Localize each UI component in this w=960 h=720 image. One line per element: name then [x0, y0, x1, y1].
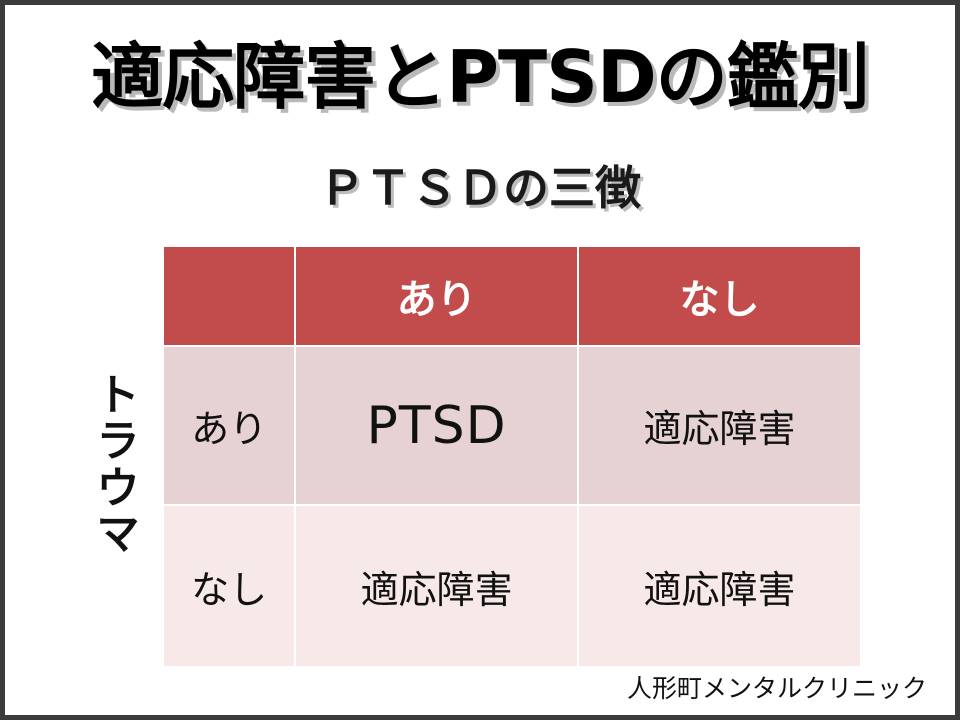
column-header-ari: あり [295, 246, 578, 346]
column-axis-label: ＰＴＳＤの三徴 [5, 163, 955, 214]
row-header-nashi: なし [163, 505, 295, 667]
table-row: あり PTSD 適応障害 [163, 346, 861, 505]
row-axis-char-4: マ [83, 512, 153, 558]
column-header-nashi: なし [578, 246, 861, 346]
differential-matrix-table: あり なし あり PTSD 適応障害 なし 適応障害 適応障害 [162, 245, 862, 668]
row-axis-label: ト ラ ウ マ [83, 373, 153, 559]
table-header-row: あり なし [163, 246, 861, 346]
cell-trauma-no-triad-no: 適応障害 [578, 505, 861, 667]
row-axis-char-1: ト [83, 373, 153, 419]
footer-attribution: 人形町メンタルクリニック [627, 669, 927, 705]
table-corner-cell [163, 246, 295, 346]
cell-trauma-yes-triad-yes: PTSD [295, 346, 578, 505]
row-axis-char-2: ラ [83, 419, 153, 465]
slide-canvas: 適応障害とPTSDの鑑別 ＰＴＳＤの三徴 ト ラ ウ マ あり なし あり PT… [0, 0, 960, 720]
row-header-ari: あり [163, 346, 295, 505]
page-title: 適応障害とPTSDの鑑別 [5, 39, 955, 117]
row-axis-char-3: ウ [83, 466, 153, 512]
cell-trauma-no-triad-yes: 適応障害 [295, 505, 578, 667]
table-row: なし 適応障害 適応障害 [163, 505, 861, 667]
cell-trauma-yes-triad-no: 適応障害 [578, 346, 861, 505]
